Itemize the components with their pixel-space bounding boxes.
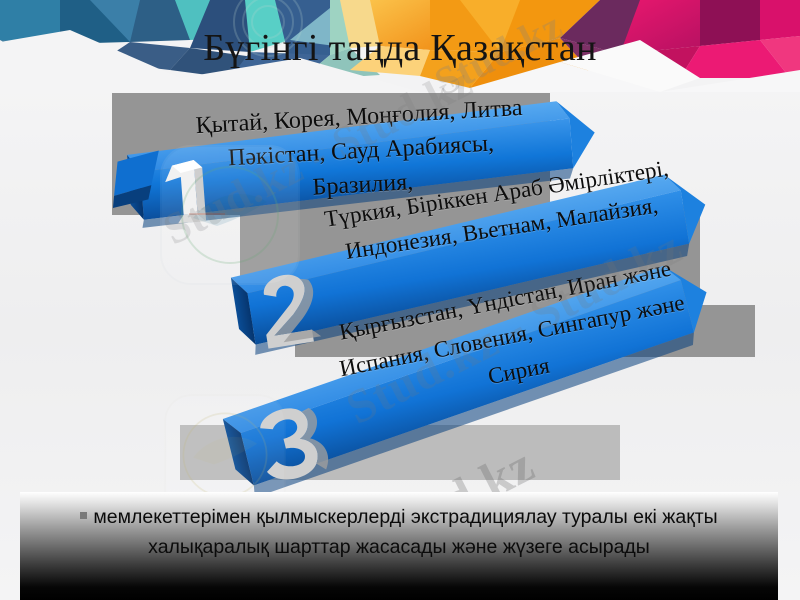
footer-bar: мемлекеттерімен қылмыскерлерді экстрадиц… <box>20 492 778 600</box>
slide-canvas: Бүгінгі таңда Қазақстан <box>0 0 800 600</box>
footer-text-wrapper: мемлекеттерімен қылмыскерлерді экстрадиц… <box>20 502 778 562</box>
square-bullet-icon <box>80 512 87 519</box>
slide-title: Бүгінгі таңда Қазақстан <box>0 26 800 70</box>
footer-text: мемлекеттерімен қылмыскерлерді экстрадиц… <box>93 506 717 558</box>
